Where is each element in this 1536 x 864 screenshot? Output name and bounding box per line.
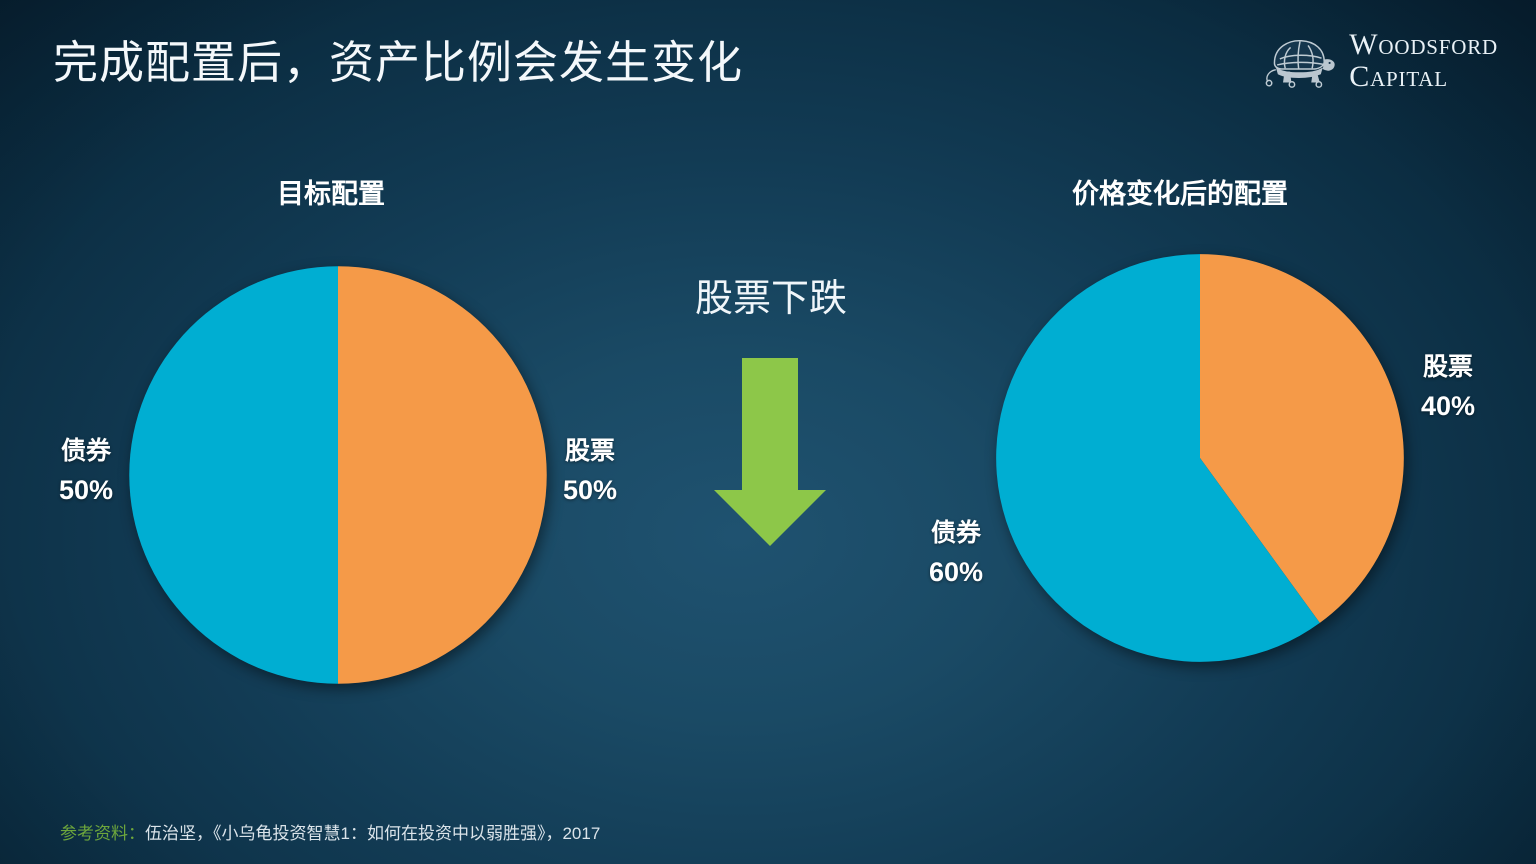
pie-label-name: 股票 — [1392, 352, 1504, 383]
slide-canvas: 完成配置后，资产比例会发生变化 — [0, 0, 1536, 864]
source-footnote: 参考资料：伍治坚，《小乌龟投资智慧1：如何在投资中以弱胜强》，2017 — [60, 819, 600, 844]
pie-slice-bonds — [129, 266, 338, 683]
chart-heading-left: 目标配置 — [277, 172, 385, 211]
pie-slice-stocks — [338, 266, 547, 683]
pie-label-value: 60% — [900, 556, 1012, 589]
pie-label-value: 40% — [1392, 390, 1504, 423]
tortoise-icon — [1261, 32, 1335, 90]
pie-chart-after-price-change — [992, 250, 1408, 666]
down-arrow-icon — [712, 356, 828, 548]
pie-label-name: 股票 — [534, 436, 646, 467]
logo-line-1: Woodsford — [1349, 30, 1498, 60]
logo-wordmark: Woodsford Capital — [1349, 30, 1498, 92]
brand-logo: Woodsford Capital — [1261, 30, 1498, 92]
pie-label-value: 50% — [534, 474, 646, 507]
pie-label-bonds-left: 债券 50% — [30, 436, 142, 506]
transition-caption: 股票下跌 — [676, 267, 866, 322]
pie-label-bonds-right: 债券 60% — [900, 518, 1012, 588]
source-label: 参考资料： — [60, 824, 145, 843]
pie-label-value: 50% — [30, 474, 142, 507]
pie-label-stocks-left: 股票 50% — [534, 436, 646, 506]
pie-chart-target-allocation — [125, 262, 551, 688]
chart-heading-right: 价格变化后的配置 — [1072, 172, 1288, 211]
logo-line-2: Capital — [1349, 62, 1498, 92]
source-text: 伍治坚，《小乌龟投资智慧1：如何在投资中以弱胜强》，2017 — [145, 824, 600, 843]
page-title: 完成配置后，资产比例会发生变化 — [53, 26, 743, 91]
pie-label-name: 债券 — [900, 518, 1012, 549]
pie-label-name: 债券 — [30, 436, 142, 467]
pie-label-stocks-right: 股票 40% — [1392, 352, 1504, 422]
